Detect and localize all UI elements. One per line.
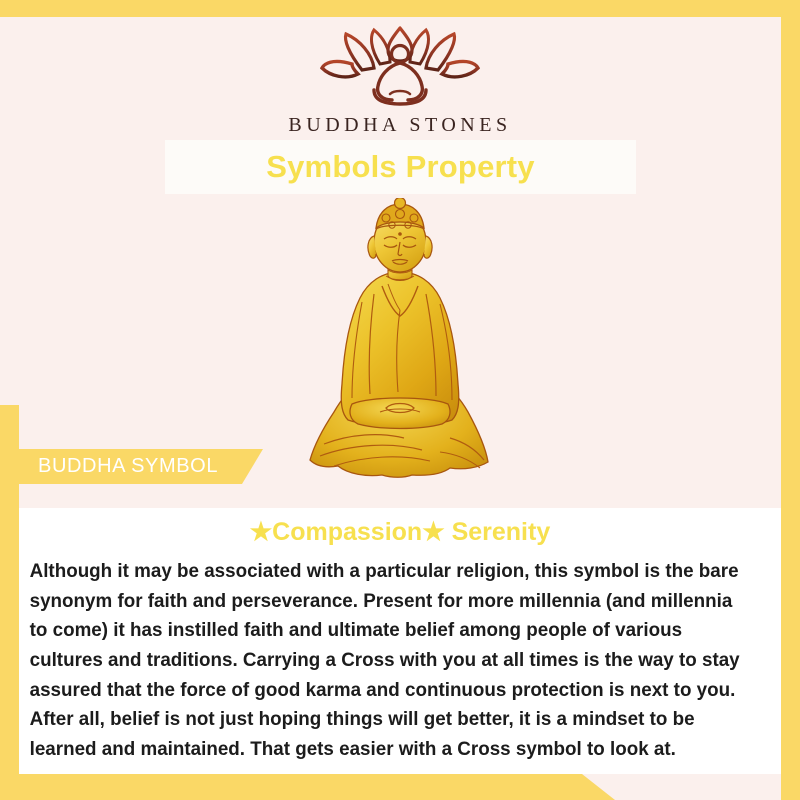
ribbon-label: BUDDHA SYMBOL [19,455,218,478]
star-icon-right: ★ [422,518,444,546]
page-title: Symbols Property [266,149,535,185]
subtitle-word-serenity: Serenity [452,518,551,546]
lotus-meditation-figure-icon [310,24,490,108]
poster-page: BUDDHA STONES Symbols Property [0,0,800,800]
title-band: Symbols Property [165,140,636,194]
body-paragraph: Although it may be associated with a par… [19,547,754,764]
frame-top-bar [0,0,800,17]
section-ribbon: BUDDHA SYMBOL [19,449,263,484]
frame-bottom-bar [0,774,615,800]
brand-logo: BUDDHA STONES [0,24,800,137]
frame-left-bar [0,405,19,800]
brand-wordmark: BUDDHA STONES [0,114,800,137]
seated-golden-buddha-statue-icon [300,198,500,488]
star-icon-left: ★ [250,518,272,546]
content-panel: ★Compassion★ Serenity Although it may be… [19,508,781,774]
buddha-statue-image [300,198,500,488]
subtitle-word-compassion: Compassion [272,518,422,546]
content-subtitle: ★Compassion★ Serenity [19,508,781,547]
